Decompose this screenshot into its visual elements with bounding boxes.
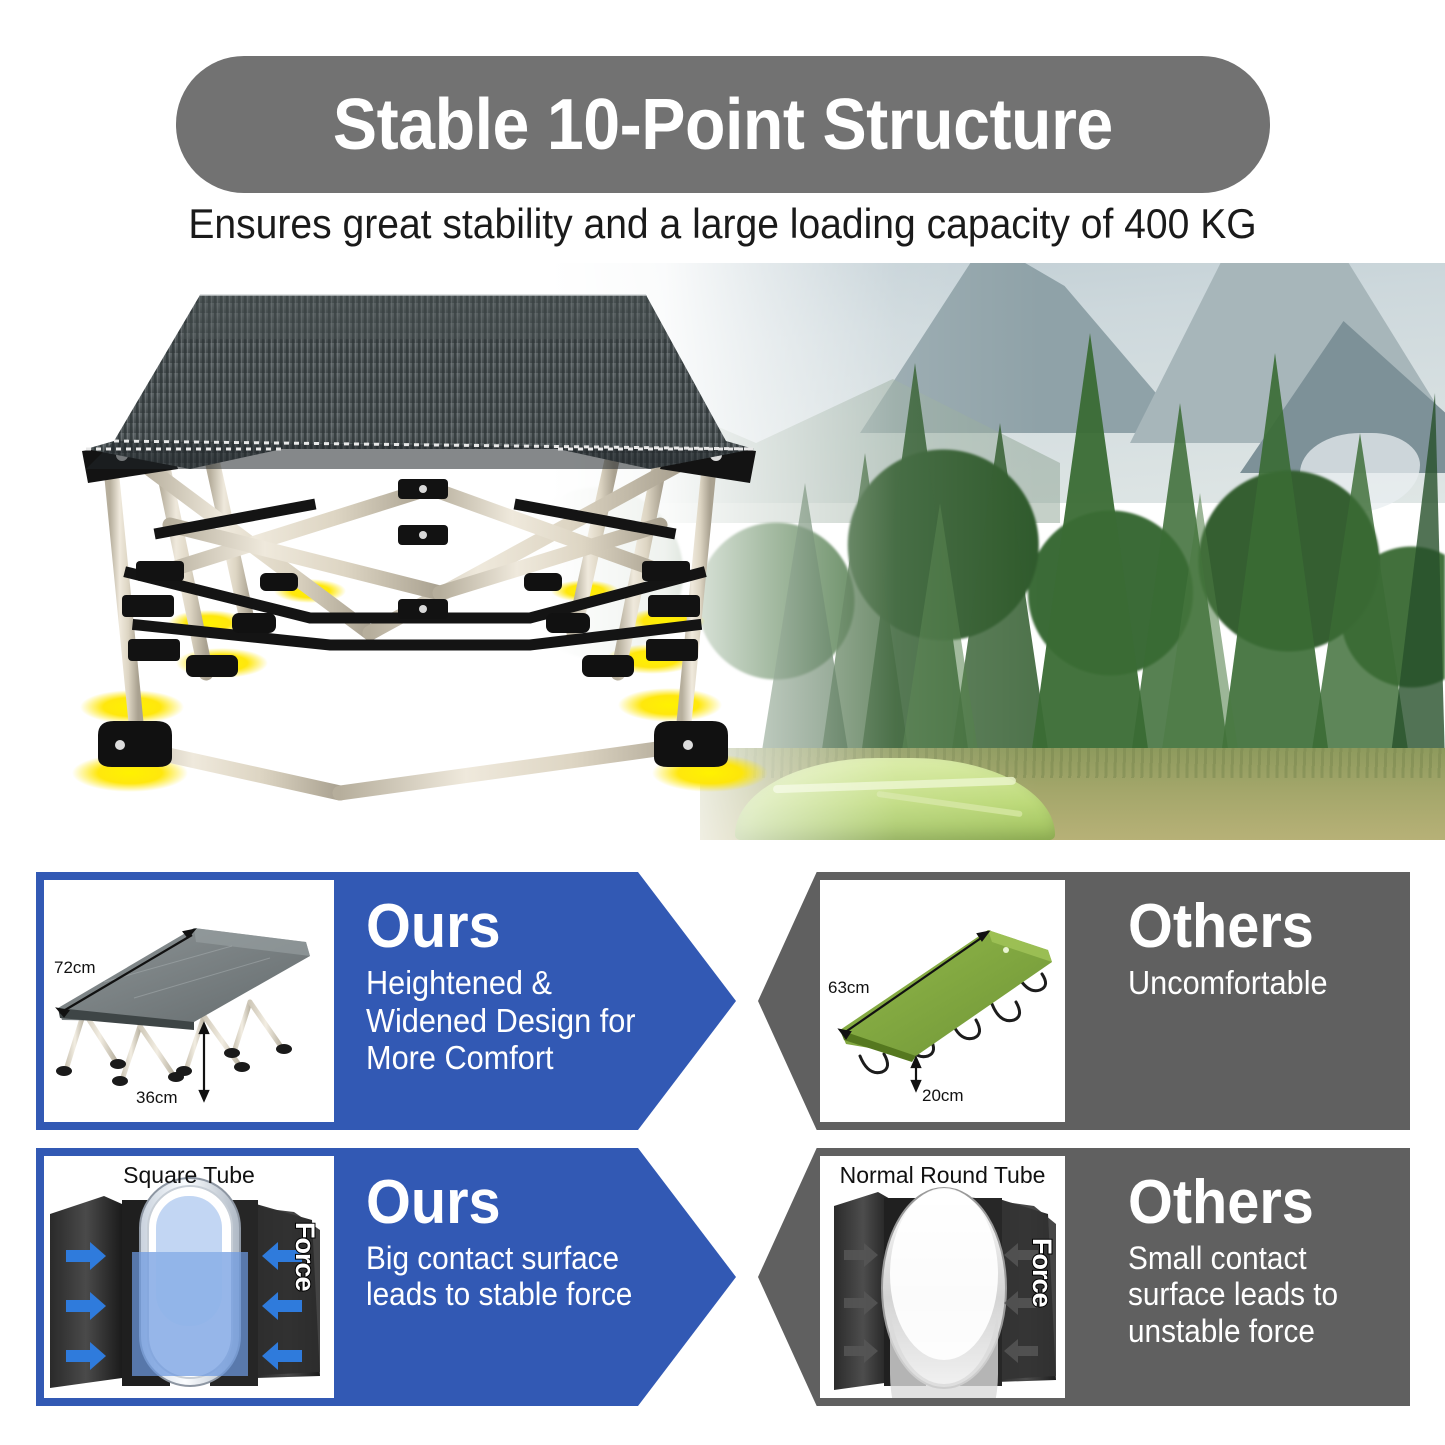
cot-fabric bbox=[86, 295, 754, 469]
ours-panel-size: 72cm 36cm Ours Heightened & Widened Desi… bbox=[36, 872, 736, 1130]
others-panel-size: 63cm 20cm Others Uncomfortable bbox=[758, 872, 1410, 1130]
others-subtitle: Uncomfortable bbox=[1128, 964, 1384, 1002]
others-title: Others bbox=[1128, 896, 1384, 958]
gray-cot-illustration bbox=[44, 880, 334, 1122]
force-label: Force bbox=[1026, 1238, 1057, 1307]
square-tube-image-frame: Square Tube Force bbox=[44, 1156, 334, 1398]
comparison-row-tube: Square Tube Force Ours Big contact surfa… bbox=[0, 1148, 1445, 1406]
others-text-block-tube: Others Small contact surface leads to un… bbox=[1128, 1172, 1403, 1349]
hero-section bbox=[0, 263, 1445, 840]
square-tube-caption: Square Tube bbox=[44, 1162, 334, 1189]
title-pill: Stable 10-Point Structure bbox=[176, 56, 1270, 193]
others-panel-tube: Normal Round Tube Force Others Small con… bbox=[758, 1148, 1410, 1406]
others-subtitle: Small contact surface leads to unstable … bbox=[1128, 1240, 1384, 1349]
round-tube-image-frame: Normal Round Tube Force bbox=[820, 1156, 1065, 1398]
page-subtitle: Ensures great stability and a large load… bbox=[51, 200, 1395, 248]
header-band: Stable 10-Point Structure Ensures great … bbox=[0, 0, 1445, 262]
ours-text-block-size: Ours Heightened & Widened Design for Mor… bbox=[366, 896, 696, 1077]
ours-title: Ours bbox=[366, 896, 673, 958]
ours-text-block-tube: Ours Big contact surface leads to stable… bbox=[366, 1172, 696, 1313]
ours-panel-tube: Square Tube Force Ours Big contact surfa… bbox=[36, 1148, 736, 1406]
dimension-label-height: 20cm bbox=[922, 1086, 964, 1106]
dimension-label-height: 36cm bbox=[136, 1088, 178, 1108]
ours-title: Ours bbox=[366, 1172, 673, 1234]
page-title: Stable 10-Point Structure bbox=[333, 84, 1113, 166]
force-label: Force bbox=[289, 1222, 320, 1291]
dimension-label-width: 63cm bbox=[828, 978, 870, 998]
round-tube-caption: Normal Round Tube bbox=[820, 1162, 1065, 1189]
comparison-row-size: 72cm 36cm Ours Heightened & Widened Desi… bbox=[0, 872, 1445, 1130]
others-cot-image-frame: 63cm 20cm bbox=[820, 880, 1065, 1122]
hero-product-cot bbox=[10, 273, 840, 833]
others-text-block-size: Others Uncomfortable bbox=[1128, 896, 1403, 1002]
others-title: Others bbox=[1128, 1172, 1384, 1234]
ours-subtitle: Heightened & Widened Design for More Com… bbox=[366, 964, 673, 1077]
ours-cot-image-frame: 72cm 36cm bbox=[44, 880, 334, 1122]
ours-subtitle: Big contact surface leads to stable forc… bbox=[366, 1240, 673, 1313]
dimension-label-width: 72cm bbox=[54, 958, 96, 978]
